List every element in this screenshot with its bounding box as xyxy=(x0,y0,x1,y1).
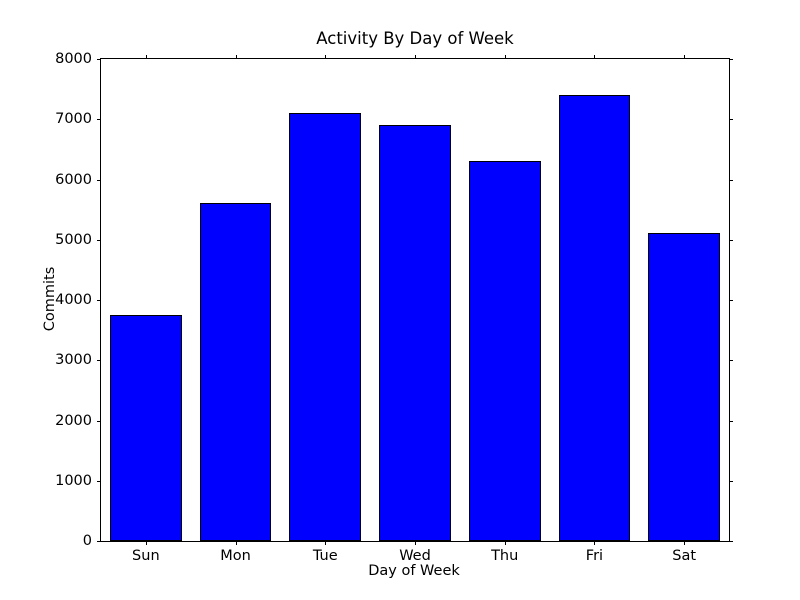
y-tick-label: 0 xyxy=(83,534,92,549)
x-tick-mark xyxy=(415,541,416,545)
y-tick-mark xyxy=(97,59,101,60)
y-tick-mark-right xyxy=(729,240,733,241)
y-tick-label: 8000 xyxy=(55,52,92,67)
x-tick-label: Wed xyxy=(399,549,431,564)
x-tick-mark-top xyxy=(325,55,326,59)
figure-canvas: Activity By Day of Week 0100020003000400… xyxy=(0,0,800,600)
x-tick-mark xyxy=(146,541,147,545)
x-axis-label: Day of Week xyxy=(100,563,728,579)
x-tick-mark-top xyxy=(146,55,147,59)
bar xyxy=(648,233,720,541)
y-tick-label: 5000 xyxy=(55,233,92,248)
y-tick-mark-right xyxy=(729,541,733,542)
x-tick-mark xyxy=(684,541,685,545)
x-tick-label: Fri xyxy=(586,549,603,564)
plot-axes: 010002000300040005000600070008000 SunMon… xyxy=(100,58,730,542)
x-tick-mark xyxy=(594,541,595,545)
x-tick-mark xyxy=(505,541,506,545)
x-tick-mark xyxy=(236,541,237,545)
y-tick-mark xyxy=(97,240,101,241)
y-tick-mark xyxy=(97,481,101,482)
x-tick-label: Mon xyxy=(220,549,251,564)
x-tick-label: Sun xyxy=(132,549,160,564)
y-tick-label: 4000 xyxy=(55,293,92,308)
plot-area xyxy=(101,59,729,541)
y-tick-mark-right xyxy=(729,300,733,301)
bar xyxy=(379,125,451,541)
x-tick-mark-top xyxy=(684,55,685,59)
y-axis-label: Commits xyxy=(42,58,58,540)
bar xyxy=(289,113,361,541)
y-tick-label: 6000 xyxy=(55,172,92,187)
y-tick-label: 1000 xyxy=(55,474,92,489)
bar xyxy=(110,315,182,541)
x-tick-mark xyxy=(325,541,326,545)
y-tick-mark xyxy=(97,119,101,120)
y-tick-mark-right xyxy=(729,59,733,60)
y-tick-mark xyxy=(97,541,101,542)
x-tick-mark-top xyxy=(415,55,416,59)
y-tick-mark xyxy=(97,180,101,181)
x-tick-mark-top xyxy=(236,55,237,59)
y-tick-label: 3000 xyxy=(55,353,92,368)
y-tick-mark-right xyxy=(729,421,733,422)
x-tick-label: Thu xyxy=(491,549,518,564)
y-tick-label: 2000 xyxy=(55,413,92,428)
x-tick-mark-top xyxy=(594,55,595,59)
bar xyxy=(200,203,272,541)
bar xyxy=(469,161,541,541)
y-tick-mark-right xyxy=(729,360,733,361)
y-tick-label: 7000 xyxy=(55,112,92,127)
y-tick-mark-right xyxy=(729,180,733,181)
y-tick-mark-right xyxy=(729,119,733,120)
bar xyxy=(559,95,631,541)
x-tick-label: Sat xyxy=(672,549,696,564)
chart-title-text: Activity By Day of Week xyxy=(316,29,513,49)
x-tick-mark-top xyxy=(505,55,506,59)
y-tick-mark xyxy=(97,421,101,422)
chart-title: Activity By Day of Week xyxy=(0,29,800,49)
y-tick-mark xyxy=(97,360,101,361)
y-tick-mark-right xyxy=(729,481,733,482)
x-tick-label: Tue xyxy=(313,549,338,564)
y-tick-mark xyxy=(97,300,101,301)
